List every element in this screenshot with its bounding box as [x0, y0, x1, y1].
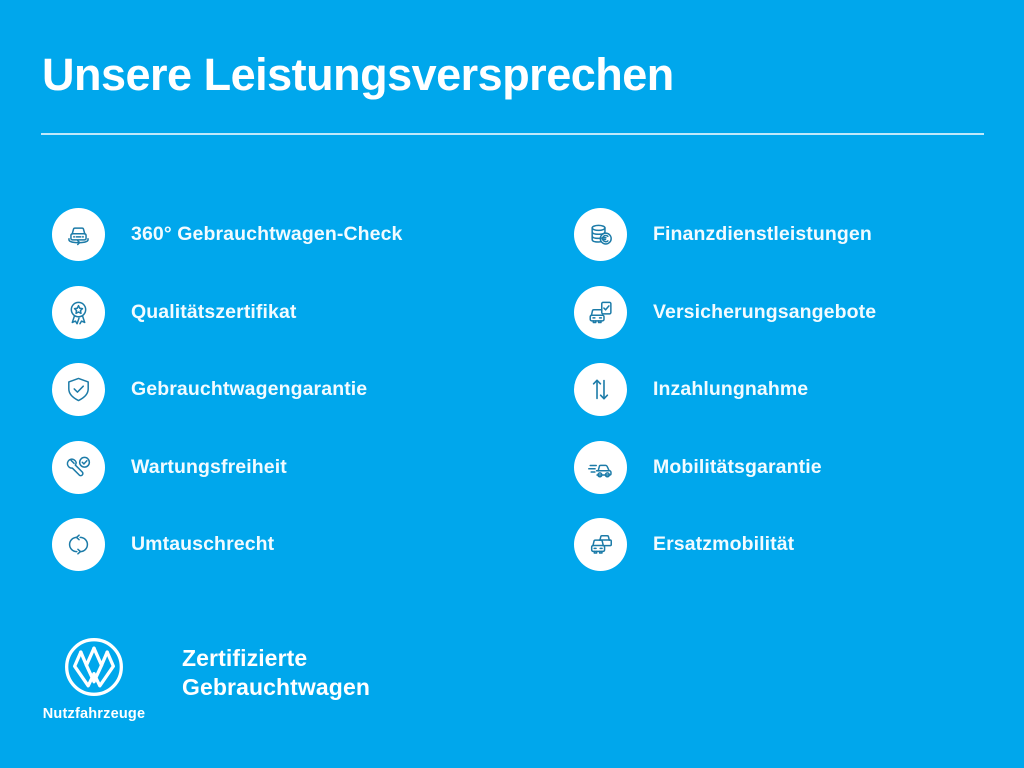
benefit-label: Gebrauchtwagengarantie [131, 378, 367, 401]
benefit-item-finanzdienstleistungen[interactable]: Finanzdienstleistungen [574, 196, 1024, 274]
benefit-label: 360° Gebrauchtwagen-Check [131, 223, 402, 246]
shield-check-icon [52, 363, 105, 416]
slide-root: Unsere Leistungsversprechen 360° Ge [0, 0, 1024, 768]
wrench-check-icon [52, 441, 105, 494]
brand-claim-line-1: Zertifizierte [182, 644, 370, 673]
benefit-label: Umtauschrecht [131, 533, 274, 556]
benefit-item-inzahlungnahme[interactable]: Inzahlungnahme [574, 351, 1024, 429]
benefit-item-qualitaetszertifikat[interactable]: Qualitätszertifikat [52, 274, 522, 352]
car-checklist-icon [574, 286, 627, 339]
benefit-label: Mobilitätsgarantie [653, 456, 822, 479]
two-cars-icon [574, 518, 627, 571]
benefit-label: Qualitätszertifikat [131, 301, 297, 324]
benefits-column-left: 360° Gebrauchtwagen-Check Qualitätszerti… [52, 196, 522, 584]
car-motion-icon [574, 441, 627, 494]
brand-sub-label: Nutzfahrzeuge [43, 706, 146, 722]
brand-claim: Zertifizierte Gebrauchtwagen [182, 644, 370, 703]
benefit-label: Versicherungsangebote [653, 301, 876, 324]
title-divider [41, 133, 984, 135]
benefit-item-versicherungsangebote[interactable]: Versicherungsangebote [574, 274, 1024, 352]
benefit-label: Finanzdienstleistungen [653, 223, 872, 246]
benefit-label: Ersatzmobilität [653, 533, 794, 556]
vw-roundel-icon [63, 636, 125, 698]
brand-claim-line-2: Gebrauchtwagen [182, 673, 370, 702]
benefit-label: Wartungsfreiheit [131, 456, 287, 479]
benefit-item-gebrauchtwagengarantie[interactable]: Gebrauchtwagengarantie [52, 351, 522, 429]
volkswagen-logo: Nutzfahrzeuge [40, 636, 148, 722]
benefit-item-ersatzmobilitaet[interactable]: Ersatzmobilität [574, 506, 1024, 584]
car-360-check-icon [52, 208, 105, 261]
benefit-item-wartungsfreiheit[interactable]: Wartungsfreiheit [52, 429, 522, 507]
benefit-label: Inzahlungnahme [653, 378, 808, 401]
coins-euro-icon [574, 208, 627, 261]
brand-footer: Nutzfahrzeuge Zertifizierte Gebrauchtwag… [40, 636, 370, 722]
award-rosette-icon [52, 286, 105, 339]
page-title: Unsere Leistungsversprechen [42, 50, 674, 100]
benefit-item-umtauschrecht[interactable]: Umtauschrecht [52, 506, 522, 584]
benefit-item-360-check[interactable]: 360° Gebrauchtwagen-Check [52, 196, 522, 274]
benefits-column-right: Finanzdienstleistungen Versicherungsange… [574, 196, 1024, 584]
arrows-up-down-icon [574, 363, 627, 416]
exchange-arrows-icon [52, 518, 105, 571]
benefit-item-mobilitaetsgarantie[interactable]: Mobilitätsgarantie [574, 429, 1024, 507]
